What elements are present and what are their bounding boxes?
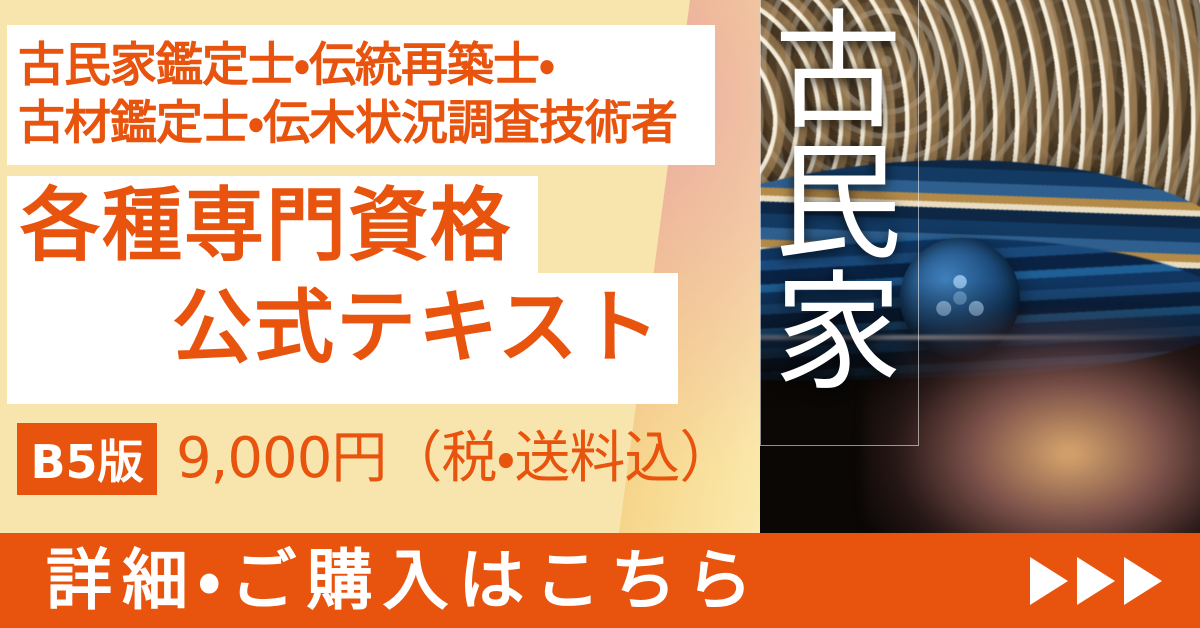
format-badge: B5版 bbox=[17, 423, 157, 495]
cover-title-char-3: 家 bbox=[768, 269, 908, 400]
headline-line-1: 古民家鑑定士・伝統再築士・ bbox=[18, 42, 554, 89]
triangle-right-icon bbox=[1030, 557, 1068, 605]
price-text: 9,000円（税・送料込） bbox=[176, 428, 734, 490]
promo-banner: 古 民 家 伝統構法、古民家活用のための調査と再生の 古民家鑑定士・伝統再築士・… bbox=[0, 0, 1200, 628]
cta-bar[interactable]: 詳細・ご購入はこちら bbox=[0, 533, 1200, 628]
main-title-line-1: 各種専門資格 bbox=[20, 186, 512, 266]
cover-title: 古 民 家 bbox=[768, 8, 908, 400]
cover-title-char-1: 古 bbox=[768, 8, 908, 139]
triangle-right-icon bbox=[1077, 557, 1115, 605]
photo-warm-glow bbox=[864, 313, 1200, 540]
triangle-right-icon bbox=[1124, 557, 1162, 605]
headline-line-2: 古材鑑定士・伝木状況調査技術者 bbox=[18, 100, 677, 147]
cta-arrow-group bbox=[1030, 557, 1162, 605]
main-title-line-2: 公式テキスト bbox=[172, 288, 662, 368]
cover-title-char-2: 民 bbox=[768, 139, 908, 270]
cta-label: 詳細・ご購入はこちら bbox=[46, 548, 762, 614]
